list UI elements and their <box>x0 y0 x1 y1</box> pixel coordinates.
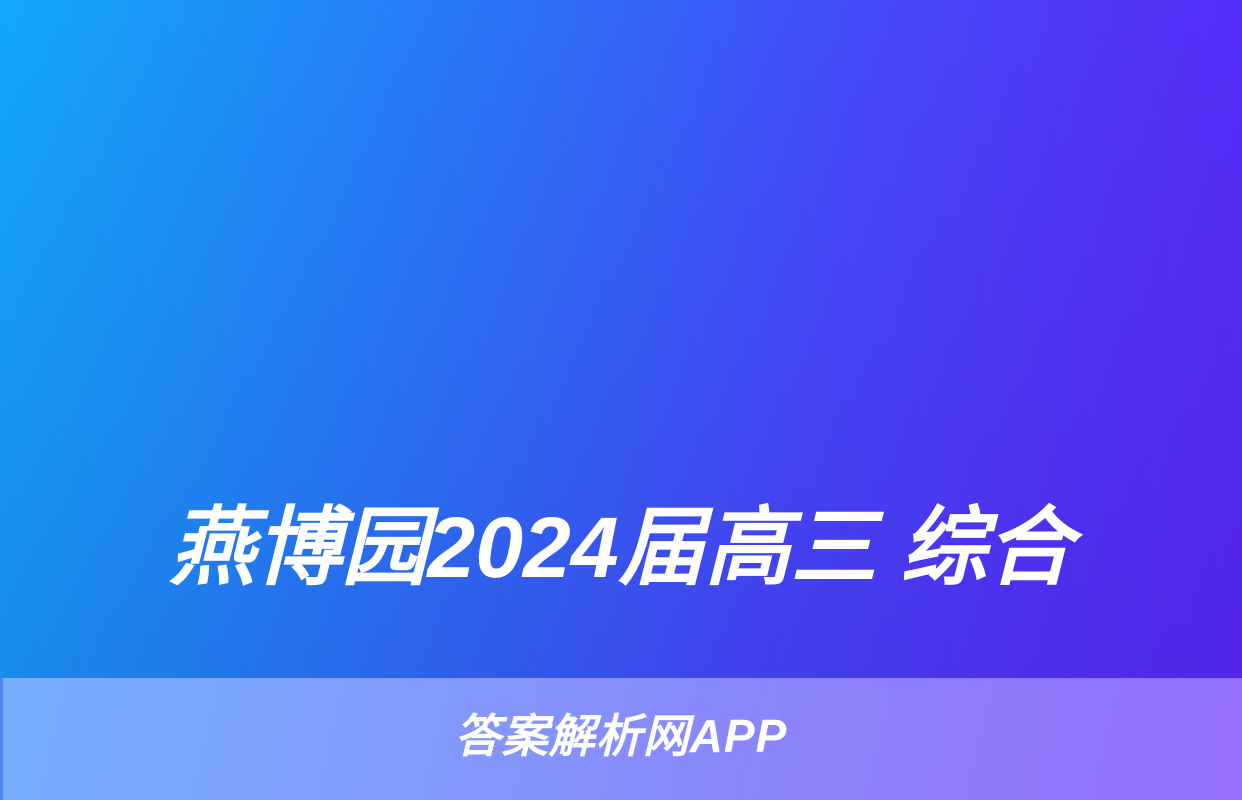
page-title-line-1: 燕博园2024届高三 综合 <box>0 474 1242 622</box>
watermark-text: 答案解析网APP <box>0 708 1242 764</box>
exam-paper-cover: 燕博园2024届高三 综合 能力测试(CAT)(一)物理 试题 答案解析网APP <box>0 0 1242 800</box>
